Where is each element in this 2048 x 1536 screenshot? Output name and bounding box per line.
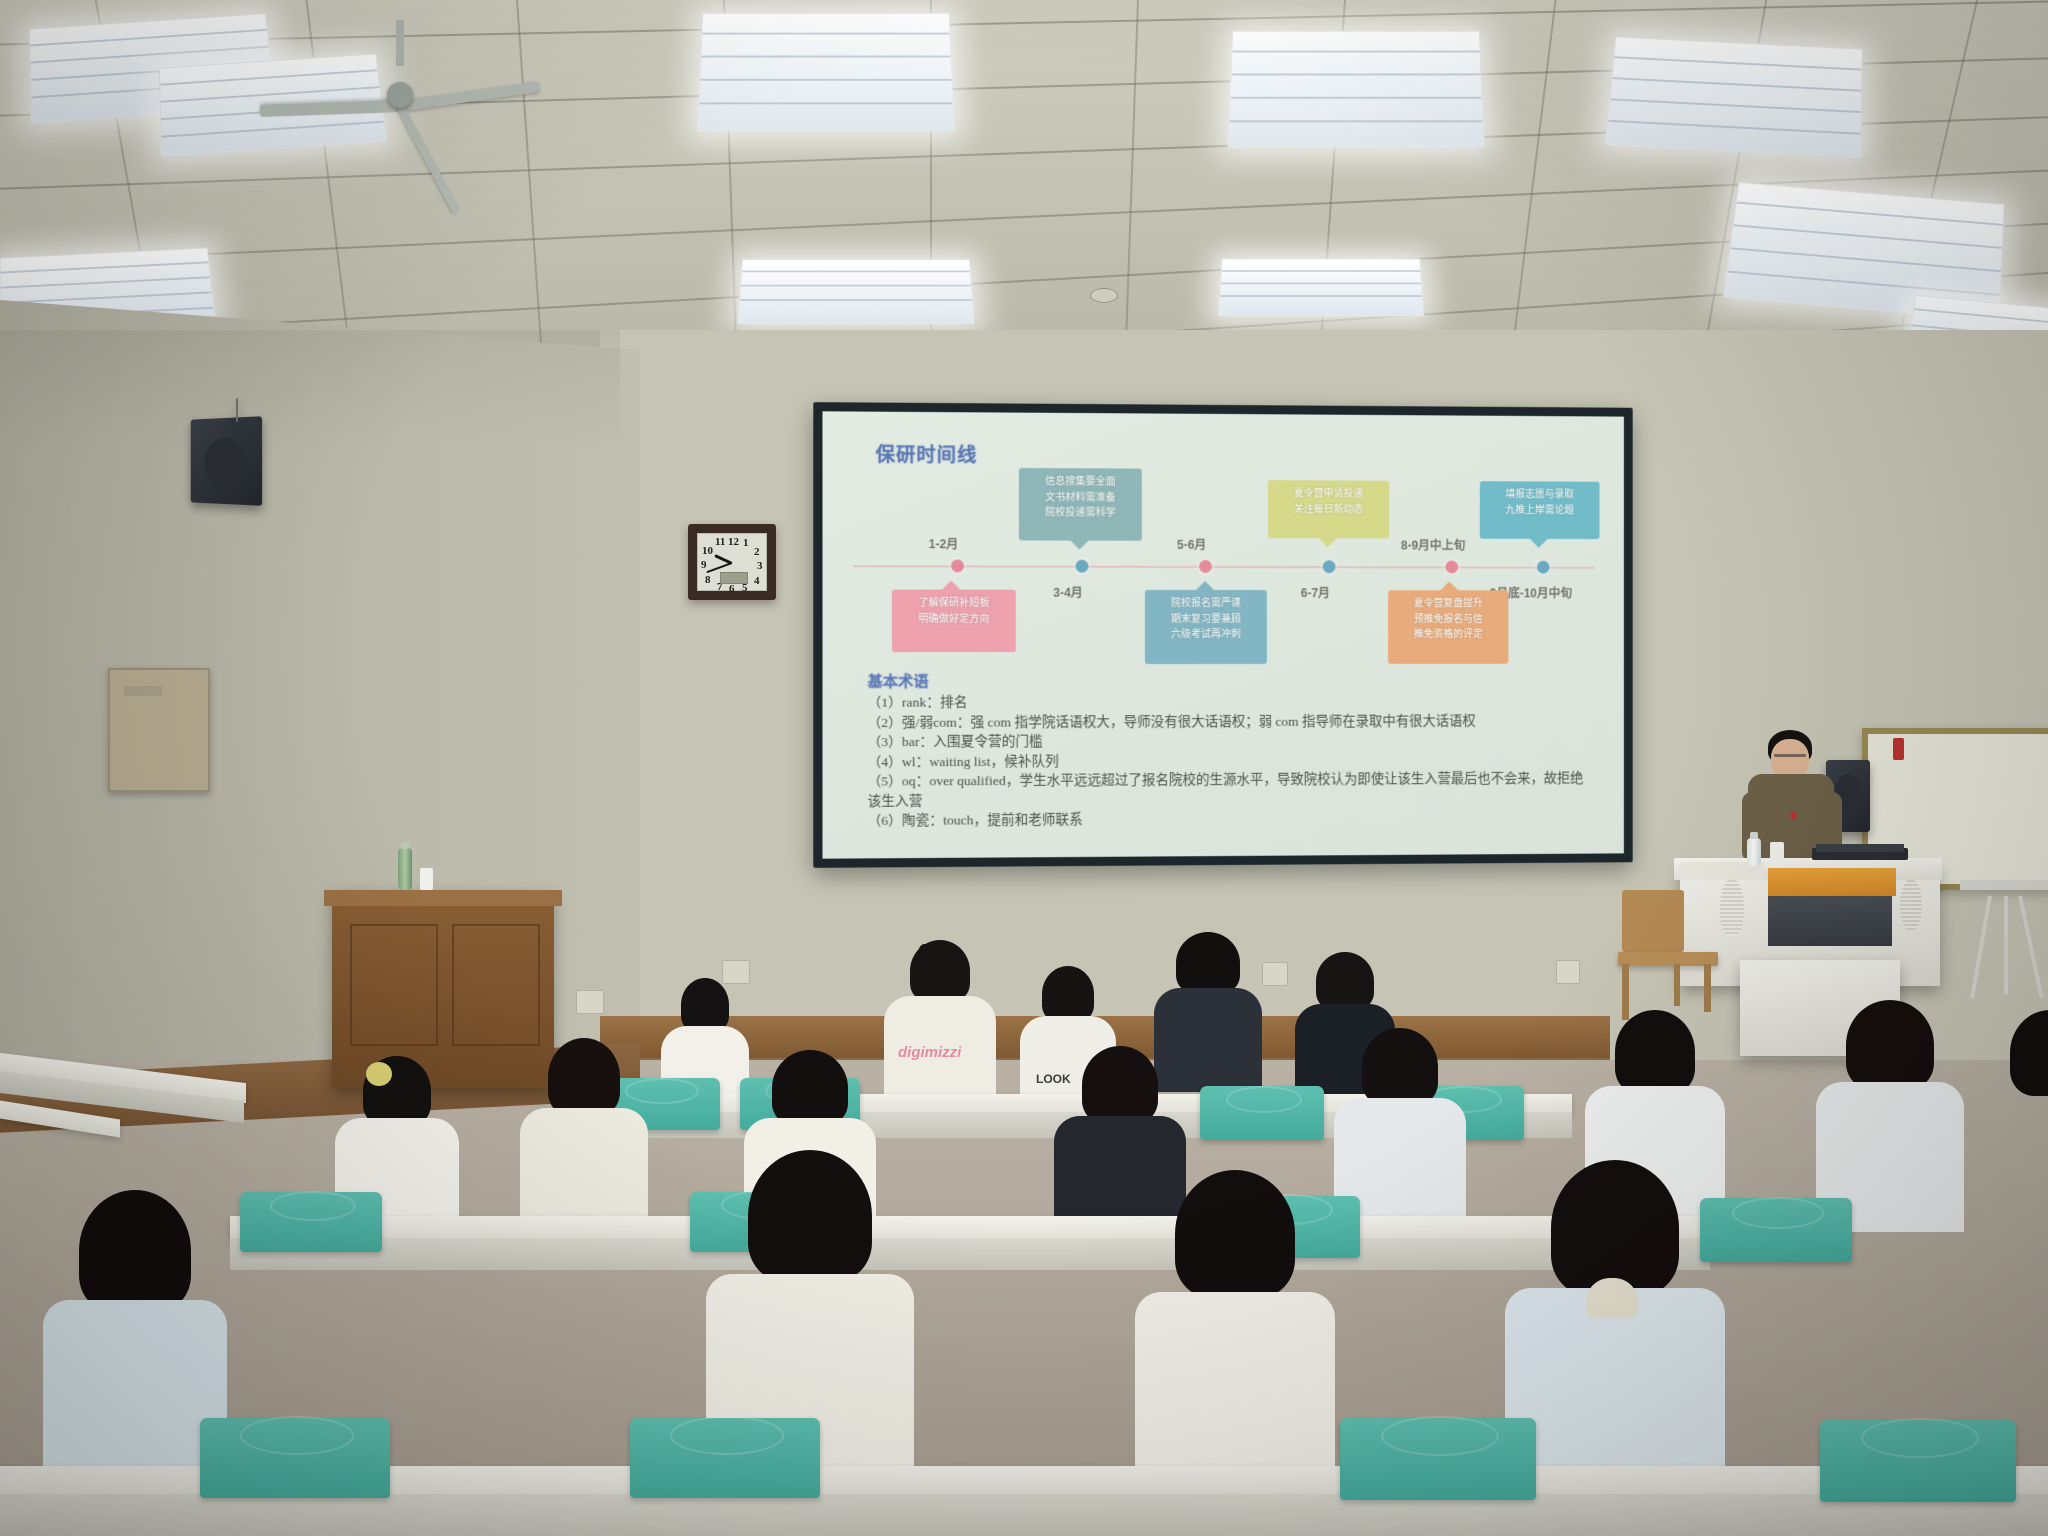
student-hair — [2010, 1010, 2048, 1096]
wooden-chair — [1618, 890, 1722, 1020]
timeline-card-9-10: 填报志愿与录取 九推上岸需论题 — [1480, 481, 1600, 539]
student-hair — [1615, 1010, 1695, 1094]
student-hair — [681, 978, 729, 1032]
laptop — [1812, 848, 1908, 860]
card-line: 填报志愿与录取 — [1488, 487, 1592, 503]
terms-heading: 基本术语 — [867, 670, 928, 691]
desk-row-front — [230, 1238, 1710, 1270]
desk-row — [230, 1216, 1710, 1240]
card-line: 院校报名需严谨 — [1153, 596, 1259, 612]
student — [1990, 1010, 2048, 1220]
card-line: 预推免报名与信 — [1396, 612, 1501, 627]
lecture-seat — [240, 1192, 382, 1252]
clock-number: 4 — [754, 575, 760, 587]
clock-number: 12 — [728, 536, 739, 548]
clock-number: 8 — [705, 574, 711, 586]
wall-outlet-icon — [1556, 960, 1580, 984]
terms-list: （1）rank：排名 （2）强/弱com：强 com 指学院话语权大，导师没有很… — [867, 691, 1586, 831]
hair-clip-icon — [366, 1062, 392, 1086]
card-line: 明确做好定方向 — [900, 611, 1008, 627]
timeline-card-5-6: 院校报名需严谨 期末复习要兼顾 六级考试再冲刺 — [1145, 590, 1267, 664]
projection-screen-frame: 保研时间线 1-2月 3-4月 5-6月 6-7月 8-9月中上旬 9月底-10… — [813, 402, 1632, 868]
lecture-hall-photo: 12 1 2 3 4 5 6 7 8 9 10 11 保研时间线 — [0, 0, 2048, 1536]
student — [1810, 1000, 1970, 1230]
student-hair — [1175, 1170, 1295, 1298]
timeline-label-6-7: 6-7月 — [1301, 584, 1330, 601]
card-line: 期末复习要兼顾 — [1153, 611, 1259, 627]
student-hair — [1846, 1000, 1934, 1090]
wall-outlet-icon — [576, 990, 604, 1014]
wall-shading — [0, 330, 620, 450]
timeline-label-5-6: 5-6月 — [1177, 536, 1206, 553]
timeline-label-3-4: 3-4月 — [1053, 584, 1083, 601]
shirt-graphic-text: digimizzi — [898, 1044, 961, 1061]
card-line: 九推上岸需论题 — [1488, 503, 1592, 519]
card-line: 夏令营申请投递 — [1276, 486, 1381, 502]
student-hair — [1176, 932, 1240, 994]
lectern-accent-panel — [1768, 868, 1896, 896]
lapel-mic-icon — [1790, 812, 1797, 819]
clock-number: 11 — [715, 536, 725, 548]
term-item: （1）rank：排名 — [867, 691, 1586, 712]
clock-number: 9 — [701, 559, 707, 571]
card-line: 推免资格的评定 — [1396, 627, 1501, 642]
student-hair — [548, 1038, 620, 1116]
term-item: （3）bar：入围夏令营的门槛 — [867, 730, 1586, 752]
term-item: （2）强/弱com：强 com 指学院话语权大，导师没有很大话语权；弱 com … — [867, 711, 1586, 732]
wall-clock: 12 1 2 3 4 5 6 7 8 9 10 11 — [688, 524, 776, 600]
paper-cup — [1770, 842, 1784, 864]
lecture-seat — [200, 1418, 390, 1498]
paper-cup — [420, 868, 433, 890]
card-line: 了解保研补短板 — [900, 596, 1008, 612]
wall-utility-panel — [108, 668, 210, 792]
projector-tripod — [1978, 896, 2048, 1006]
glasses-icon — [1774, 754, 1806, 757]
ceiling-light — [1228, 31, 1485, 147]
card-line: 夏令营复盘提升 — [1396, 596, 1501, 611]
smoke-detector-icon — [1090, 288, 1118, 303]
timeline-card-1-2: 了解保研补短板 明确做好定方向 — [892, 590, 1016, 653]
hair-bow-icon — [1586, 1278, 1638, 1318]
student-hair — [748, 1150, 872, 1282]
presenter-head — [1771, 739, 1809, 779]
student-hair — [1551, 1160, 1679, 1296]
clock-number: 10 — [702, 545, 713, 557]
clock-number: 3 — [757, 560, 763, 572]
student: digimizzi — [880, 940, 1000, 1100]
timeline-card-8-9: 夏令营复盘提升 预推免报名与信 推免资格的评定 — [1388, 590, 1508, 664]
timeline-axis — [853, 565, 1594, 569]
timeline-dot-3-4 — [1075, 560, 1088, 573]
wall-speaker — [191, 416, 262, 506]
ceiling-light — [1605, 36, 1863, 157]
desk-row-front — [0, 1494, 2048, 1536]
ceiling-light — [738, 259, 975, 324]
timeline-dot-1-2 — [951, 559, 964, 572]
timeline-label-1-2: 1-2月 — [929, 535, 959, 552]
card-line: 六级考试再冲刺 — [1153, 627, 1259, 643]
water-bottle — [398, 848, 412, 890]
ceiling-light — [1218, 259, 1424, 317]
timeline-card-6-7: 夏令营申请投递 关注每日新动态 — [1268, 480, 1389, 538]
student-hair — [1082, 1046, 1158, 1124]
student-hair — [1316, 952, 1374, 1010]
timeline-card-3-4: 信息搜集要全面 文书材料需准备 院校投递需科学 — [1019, 468, 1142, 541]
timeline-dot-5-6 — [1199, 560, 1212, 573]
slide-content: 保研时间线 1-2月 3-4月 5-6月 6-7月 8-9月中上旬 9月底-10… — [822, 411, 1623, 858]
student — [1130, 1170, 1340, 1510]
student-hair — [1362, 1028, 1438, 1106]
clock-number: 2 — [754, 546, 760, 558]
speaker-cable — [236, 398, 238, 422]
student-hair — [772, 1050, 848, 1126]
timeline-dot-6-7 — [1323, 560, 1336, 573]
clock-number: 1 — [743, 537, 749, 549]
lecture-seat — [1340, 1418, 1536, 1500]
clock-face: 12 1 2 3 4 5 6 7 8 9 10 11 — [697, 533, 767, 591]
ceiling-light — [698, 13, 955, 131]
card-line: 文书材料需准备 — [1027, 490, 1134, 506]
term-item: （5）oq：over qualified，学生水平远远超过了报名院校的生源水平，… — [867, 769, 1586, 811]
student-shoulders — [520, 1108, 648, 1230]
clock-lcd — [720, 572, 748, 584]
student-hair — [79, 1190, 191, 1312]
card-line: 关注每日新动态 — [1276, 502, 1381, 518]
clock-number: 6 — [729, 583, 735, 595]
student — [516, 1038, 652, 1228]
card-line: 信息搜集要全面 — [1027, 474, 1134, 490]
fire-alarm-icon — [1893, 738, 1904, 760]
lecture-seat — [630, 1418, 820, 1498]
timeline-dot-8-9 — [1445, 560, 1458, 573]
card-line: 院校投递需科学 — [1027, 505, 1134, 521]
water-bottle — [1747, 838, 1761, 866]
lectern-speaker-grill — [1720, 880, 1744, 936]
projection-screen: 保研时间线 1-2月 3-4月 5-6月 6-7月 8-9月中上旬 9月底-10… — [822, 411, 1623, 858]
timeline-label-8-9: 8-9月中上旬 — [1401, 537, 1466, 554]
tripod-crossbar — [1960, 880, 2048, 890]
term-item: （6）陶瓷：touch，提前和老师联系 — [867, 808, 1586, 832]
timeline-dot-9-10 — [1537, 561, 1550, 574]
ceiling-fan — [250, 20, 550, 170]
lectern-speaker-grill — [1900, 880, 1922, 930]
student-hair — [1042, 966, 1094, 1022]
lecture-seat — [1820, 1420, 2016, 1502]
student-ponytail — [916, 944, 934, 988]
slide-title: 保研时间线 — [876, 440, 978, 468]
lecture-seat — [1200, 1086, 1324, 1140]
lectern-cabinet-door — [1768, 896, 1892, 946]
